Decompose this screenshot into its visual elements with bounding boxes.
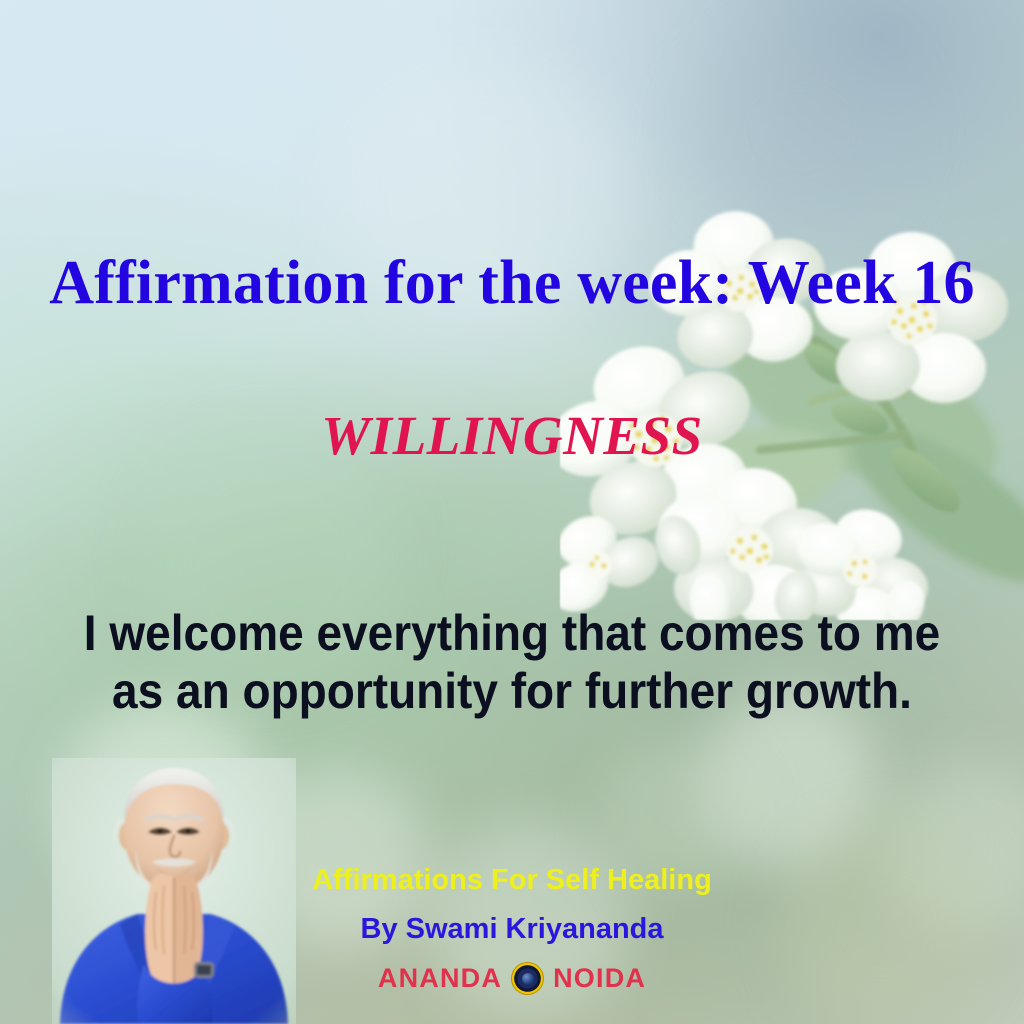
credit-author: By Swami Kriyananda [0, 915, 1024, 944]
affirmation-text: I welcome everything that comes to me as… [69, 604, 956, 720]
page-title: Affirmation for the week: Week 16 [0, 252, 1024, 314]
logo-word-ananda: ANANDA [378, 965, 502, 992]
white-jasmine-flowers-icon [560, 150, 1024, 620]
ananda-circle-emblem-icon [511, 962, 544, 995]
affirmation-line-1: I welcome everything that comes to me [69, 604, 956, 662]
affirmation-line-2: as an opportunity for further growth. [69, 662, 956, 720]
ananda-noida-logo: ANANDA NOIDA [0, 962, 1024, 995]
affirmation-keyword: WILLINGNESS [0, 408, 1024, 463]
affirmation-poster: Affirmation for the week: Week 16 WILLIN… [0, 0, 1024, 1024]
credit-series-title: Affirmations For Self Healing [0, 866, 1024, 895]
logo-word-noida: NOIDA [553, 965, 646, 992]
